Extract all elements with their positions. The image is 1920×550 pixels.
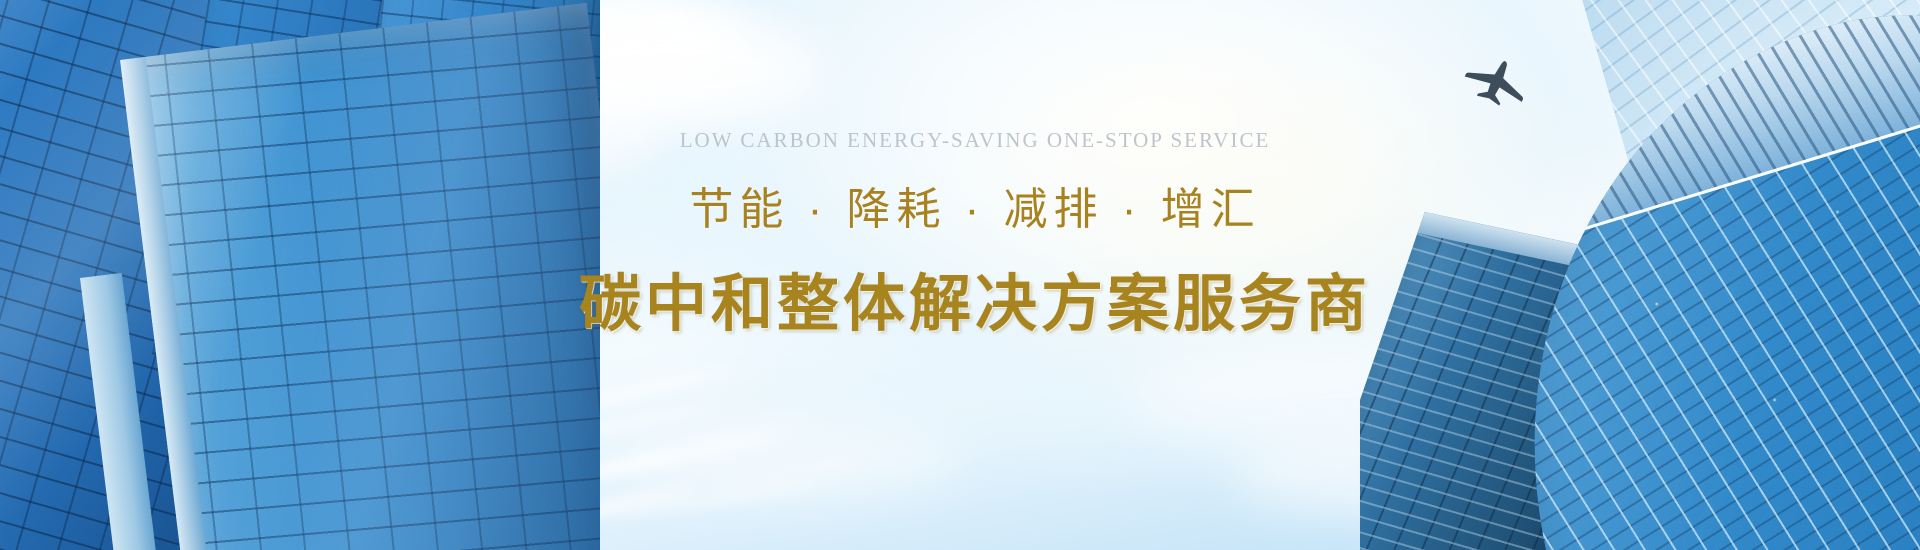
banner-eyebrow: LOW CARBON ENERGY-SAVING ONE-STOP SERVIC… bbox=[680, 128, 1271, 153]
hero-banner: LOW CARBON ENERGY-SAVING ONE-STOP SERVIC… bbox=[0, 0, 1920, 550]
banner-subtitle: 节能 · 降耗 · 减排 · 增汇 bbox=[689, 173, 1260, 237]
banner-headline: 碳中和整体解决方案服务商 bbox=[579, 253, 1371, 343]
banner-text-block: LOW CARBON ENERGY-SAVING ONE-STOP SERVIC… bbox=[0, 0, 1920, 343]
